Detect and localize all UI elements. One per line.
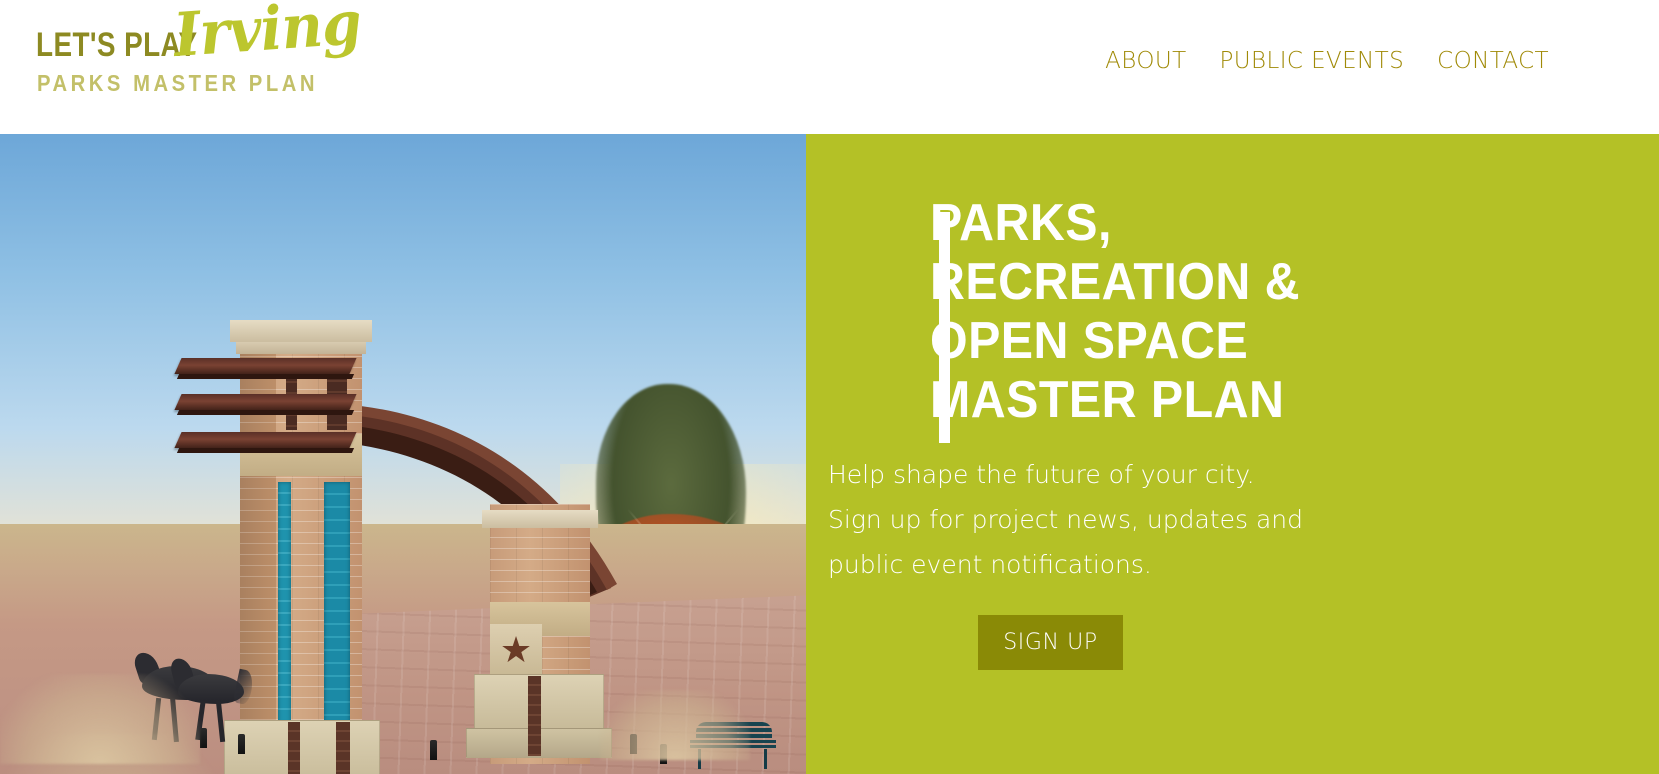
hero-photo: ★	[0, 134, 806, 774]
pillar-cap-left-lower	[236, 342, 366, 354]
star-icon: ★	[500, 632, 532, 668]
base-tile-strip	[288, 722, 300, 774]
hero-title-line-3: OPEN SPACE	[930, 312, 1376, 371]
blue-tile-strip	[278, 482, 291, 724]
main-navigation: ABOUT PUBLIC EVENTS CONTACT	[1105, 48, 1549, 74]
texas-star-plaque: ★	[490, 624, 542, 676]
cantilever-fin-edge	[177, 410, 354, 415]
cantilever-fin	[174, 394, 356, 410]
cantilever-fin-edge	[177, 374, 354, 379]
nav-link-public-events[interactable]: PUBLIC EVENTS	[1220, 48, 1405, 74]
pillar-cap-right	[482, 510, 598, 528]
ornamental-grass	[0, 674, 200, 764]
hero-subtitle: Help shape the future of your city. Sign…	[828, 452, 1388, 587]
hero-subtitle-line-2: Sign up for project news, updates and	[828, 497, 1388, 542]
sign-up-button[interactable]: SIGN UP	[978, 615, 1123, 670]
cantilever-fin-edge	[177, 448, 354, 453]
hero-title-line-2: RECREATION &	[930, 253, 1376, 312]
pillar-cap-left	[230, 320, 372, 342]
logo-irving-script: Irving	[172, 0, 363, 66]
hero-subtitle-line-1: Help shape the future of your city.	[828, 452, 1388, 497]
logo-line-secondary: PARKS MASTER PLAN	[37, 72, 318, 95]
nav-link-contact[interactable]: CONTACT	[1437, 48, 1549, 74]
base-tile-strip	[528, 676, 541, 756]
path-light	[430, 740, 437, 760]
hero-section: ★	[0, 134, 1659, 774]
hero-title-line-1: PARKS,	[930, 194, 1376, 253]
ornamental-grass	[600, 690, 750, 760]
hero-content-panel: PARKS, RECREATION & OPEN SPACE MASTER PL…	[806, 134, 1659, 774]
cantilever-fin	[174, 358, 356, 374]
hero-title: PARKS, RECREATION & OPEN SPACE MASTER PL…	[930, 194, 1376, 430]
hero-subtitle-line-3: public event notifications.	[828, 542, 1388, 587]
blue-tile-strip	[324, 482, 350, 724]
nav-link-about[interactable]: ABOUT	[1105, 48, 1186, 74]
site-logo[interactable]: LET'S PLAY Irving PARKS MASTER PLAN	[36, 22, 336, 110]
hero-title-line-4: MASTER PLAN	[930, 371, 1376, 430]
bench-leg	[764, 749, 767, 769]
cantilever-fin	[174, 432, 356, 448]
site-header: LET'S PLAY Irving PARKS MASTER PLAN ABOU…	[0, 0, 1659, 134]
base-tile-strip	[336, 722, 350, 774]
